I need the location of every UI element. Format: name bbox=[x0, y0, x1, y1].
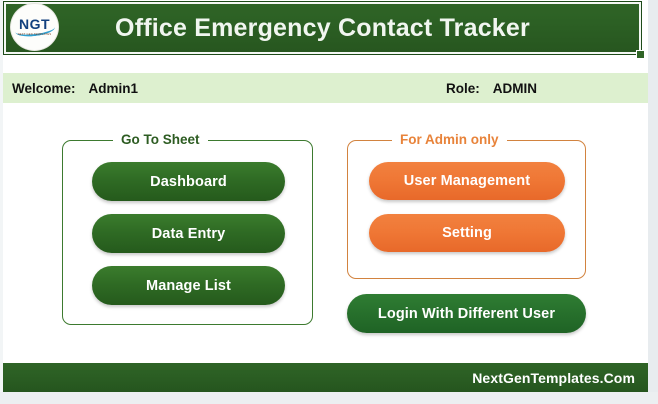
user-management-button[interactable]: User Management bbox=[369, 162, 565, 200]
goto-sheet-legend: Go To Sheet bbox=[113, 131, 208, 149]
logo-mark-text: NGT bbox=[19, 17, 50, 31]
user-info-bar: Welcome: Admin1 Role: ADMIN bbox=[3, 73, 648, 103]
admin-only-panel: For Admin only bbox=[347, 140, 586, 279]
sheet-left-edge bbox=[0, 0, 3, 404]
sheet-right-gutter bbox=[648, 0, 658, 404]
role-value: ADMIN bbox=[493, 81, 537, 96]
admin-only-legend: For Admin only bbox=[392, 131, 507, 149]
app-window: Office Emergency Contact Tracker NGT NEX… bbox=[0, 0, 658, 404]
footer-brand-text: NextGenTemplates.Com bbox=[472, 370, 635, 386]
footer-bar: NextGenTemplates.Com bbox=[3, 363, 648, 392]
data-entry-button[interactable]: Data Entry bbox=[92, 214, 285, 253]
welcome-username-value: Admin1 bbox=[89, 81, 139, 96]
sheet-bottom-gutter bbox=[0, 392, 658, 404]
welcome-label: Welcome: bbox=[12, 81, 76, 96]
role-group: Role: ADMIN bbox=[446, 81, 537, 96]
welcome-group: Welcome: Admin1 bbox=[12, 81, 138, 96]
header-banner[interactable]: Office Emergency Contact Tracker bbox=[4, 2, 641, 54]
login-with-different-user-button[interactable]: Login With Different User bbox=[347, 294, 586, 333]
page-title: Office Emergency Contact Tracker bbox=[115, 14, 530, 43]
role-label: Role: bbox=[446, 81, 480, 96]
dashboard-button[interactable]: Dashboard bbox=[92, 162, 285, 201]
setting-button[interactable]: Setting bbox=[369, 214, 565, 252]
logo-subtitle-text: NEXT GEN TEMPLATES bbox=[18, 34, 52, 37]
manage-list-button[interactable]: Manage List bbox=[92, 266, 285, 305]
ngt-logo-icon: NGT NEXT GEN TEMPLATES bbox=[11, 4, 58, 50]
shape-selection-handle[interactable] bbox=[636, 50, 645, 59]
